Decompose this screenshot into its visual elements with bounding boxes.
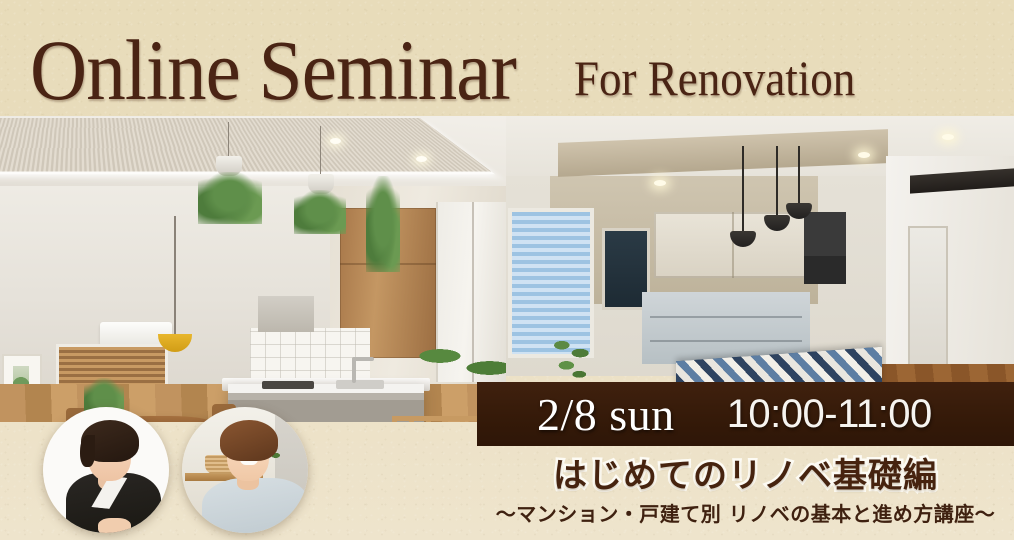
downlight-icon xyxy=(942,134,954,140)
banner-header: Online Seminar For Renovation xyxy=(0,0,1014,116)
interior-photo-left xyxy=(0,116,506,422)
range-hood xyxy=(804,212,846,284)
faucet xyxy=(352,357,356,383)
avatar-hair-side xyxy=(80,435,95,468)
date-time-bar: 2/8 sun 10:00-11:00 xyxy=(477,382,1014,446)
photo-strip xyxy=(0,116,1014,422)
hanging-plant xyxy=(294,190,346,234)
interior-photo-right xyxy=(506,116,1014,422)
pendant-light xyxy=(742,146,744,232)
hanging-cord xyxy=(320,126,321,174)
seminar-subtitle: 〜マンション・戸建て別 リノベの基本と進め方講座〜 xyxy=(477,498,1014,527)
hanging-plant xyxy=(198,172,262,224)
online-seminar-banner: Online Seminar For Renovation xyxy=(0,0,1014,540)
avatar-hands xyxy=(98,518,131,533)
pendant-light xyxy=(174,216,176,336)
downlight-icon xyxy=(330,138,341,144)
seminar-date: 2/8 sun xyxy=(537,388,675,441)
hanging-plant xyxy=(366,176,400,272)
pendant-light xyxy=(776,146,778,216)
interior-door xyxy=(908,226,948,366)
presenter-avatar-1 xyxy=(43,407,169,533)
downlight-icon xyxy=(416,156,427,162)
seminar-time: 10:00-11:00 xyxy=(727,392,932,437)
banner-subtitle: For Renovation xyxy=(574,53,855,103)
banner-title: Online Seminar xyxy=(30,31,516,110)
downlight-icon xyxy=(858,152,870,158)
presenter-avatar-2 xyxy=(182,407,308,533)
avatar-hair xyxy=(220,420,278,462)
hanging-cord xyxy=(228,122,229,156)
downlight-icon xyxy=(654,180,666,186)
pendant-light xyxy=(798,146,800,204)
seminar-headline: はじめてのリノベ基礎編 xyxy=(477,448,1014,497)
cooktop xyxy=(262,381,314,389)
ceiling-panel xyxy=(0,118,495,174)
range-hood xyxy=(258,296,314,332)
sink xyxy=(336,380,384,389)
